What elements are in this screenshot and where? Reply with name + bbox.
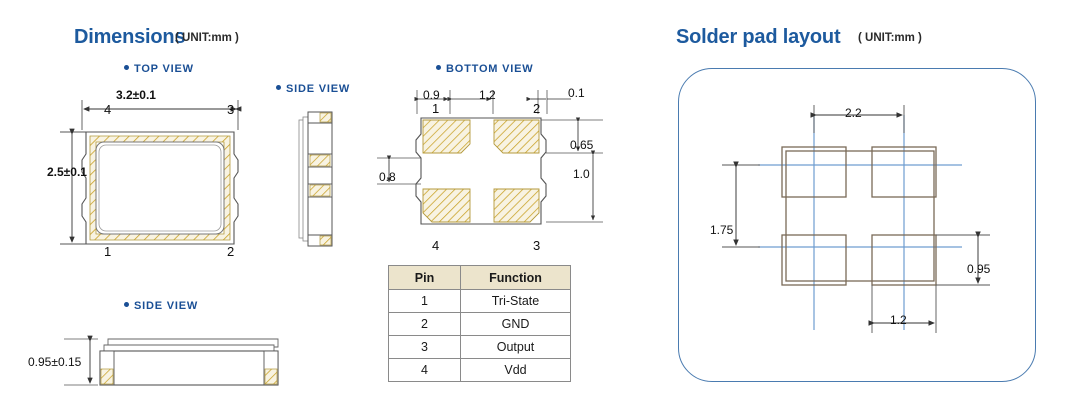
top-view-pin-2: 2: [227, 244, 234, 259]
table-cell-function: Tri-State: [461, 290, 571, 313]
bottom-view-label: BOTTOM VIEW: [436, 63, 533, 75]
bullet-icon: [436, 65, 441, 70]
solder-pad-dim-pad-width: 1.2: [890, 313, 907, 327]
table-cell-function: GND: [461, 313, 571, 336]
solder-pad-dim-span-y: 1.75: [710, 223, 733, 237]
table-header-row: Pin Function: [389, 266, 571, 290]
top-view-pin-4: 4: [104, 102, 111, 117]
dimensions-title: Dimensions: [74, 26, 185, 49]
bullet-icon: [124, 302, 129, 307]
bottom-view-dim-pad-height: 0.8: [379, 170, 396, 184]
technical-drawing-page: Dimensions ( UNIT:mm ) TOP VIEW: [0, 0, 1080, 420]
bottom-view-dim-gap: 1.2: [479, 88, 496, 102]
side-view-right-label: SIDE VIEW: [276, 83, 350, 95]
top-view-label-text: TOP VIEW: [134, 63, 194, 75]
top-view-pin-3: 3: [227, 102, 234, 117]
table-row: 1 Tri-State: [389, 290, 571, 313]
table-cell-pin: 1: [389, 290, 461, 313]
bottom-view-pin-3: 3: [533, 238, 540, 253]
table-row: 4 Vdd: [389, 359, 571, 382]
solder-pad-dim-pad-height: 0.95: [967, 262, 990, 276]
top-view-label: TOP VIEW: [124, 63, 194, 75]
dimensions-unit: ( UNIT:mm ): [175, 32, 239, 44]
solder-pad-drawing: [700, 85, 1020, 365]
table-row: 3 Output: [389, 336, 571, 359]
bottom-view-dim-pad-top: 0.65: [570, 138, 593, 152]
bullet-icon: [276, 85, 281, 90]
bottom-view-pin-4: 4: [432, 238, 439, 253]
side-view-right-label-text: SIDE VIEW: [286, 83, 350, 95]
table-cell-pin: 3: [389, 336, 461, 359]
top-view-height-dim: 2.5±0.1: [47, 165, 87, 179]
bottom-view-drawing: [375, 82, 605, 262]
solder-pad-title: Solder pad layout: [676, 26, 840, 49]
pin-function-table: Pin Function 1 Tri-State 2 GND 3 Output …: [388, 265, 571, 382]
bottom-view-label-text: BOTTOM VIEW: [446, 63, 533, 75]
side-view-low-label: SIDE VIEW: [124, 300, 198, 312]
table-cell-pin: 4: [389, 359, 461, 382]
table-cell-function: Output: [461, 336, 571, 359]
side-view-right-drawing: [290, 108, 350, 253]
bottom-view-dim-pitch: 1.0: [573, 167, 590, 181]
table-header-function: Function: [461, 266, 571, 290]
bottom-view-dim-pad-width: 0.9: [423, 88, 440, 102]
side-view-low-drawing: [52, 325, 292, 395]
side-view-low-height-dim: 0.95±0.15: [28, 355, 81, 369]
solder-pad-unit: ( UNIT:mm ): [858, 32, 922, 44]
table-row: 2 GND: [389, 313, 571, 336]
top-view-width-dim: 3.2±0.1: [116, 88, 156, 102]
table-cell-pin: 2: [389, 313, 461, 336]
bullet-icon: [124, 65, 129, 70]
solder-pad-dim-span-x: 2.2: [845, 106, 862, 120]
top-view-pin-1: 1: [104, 244, 111, 259]
table-header-pin: Pin: [389, 266, 461, 290]
bottom-view-dim-edge: 0.1: [568, 86, 585, 100]
side-view-low-label-text: SIDE VIEW: [134, 300, 198, 312]
bottom-view-pin-2: 2: [533, 101, 540, 116]
bottom-view-pin-1: 1: [432, 101, 439, 116]
table-cell-function: Vdd: [461, 359, 571, 382]
